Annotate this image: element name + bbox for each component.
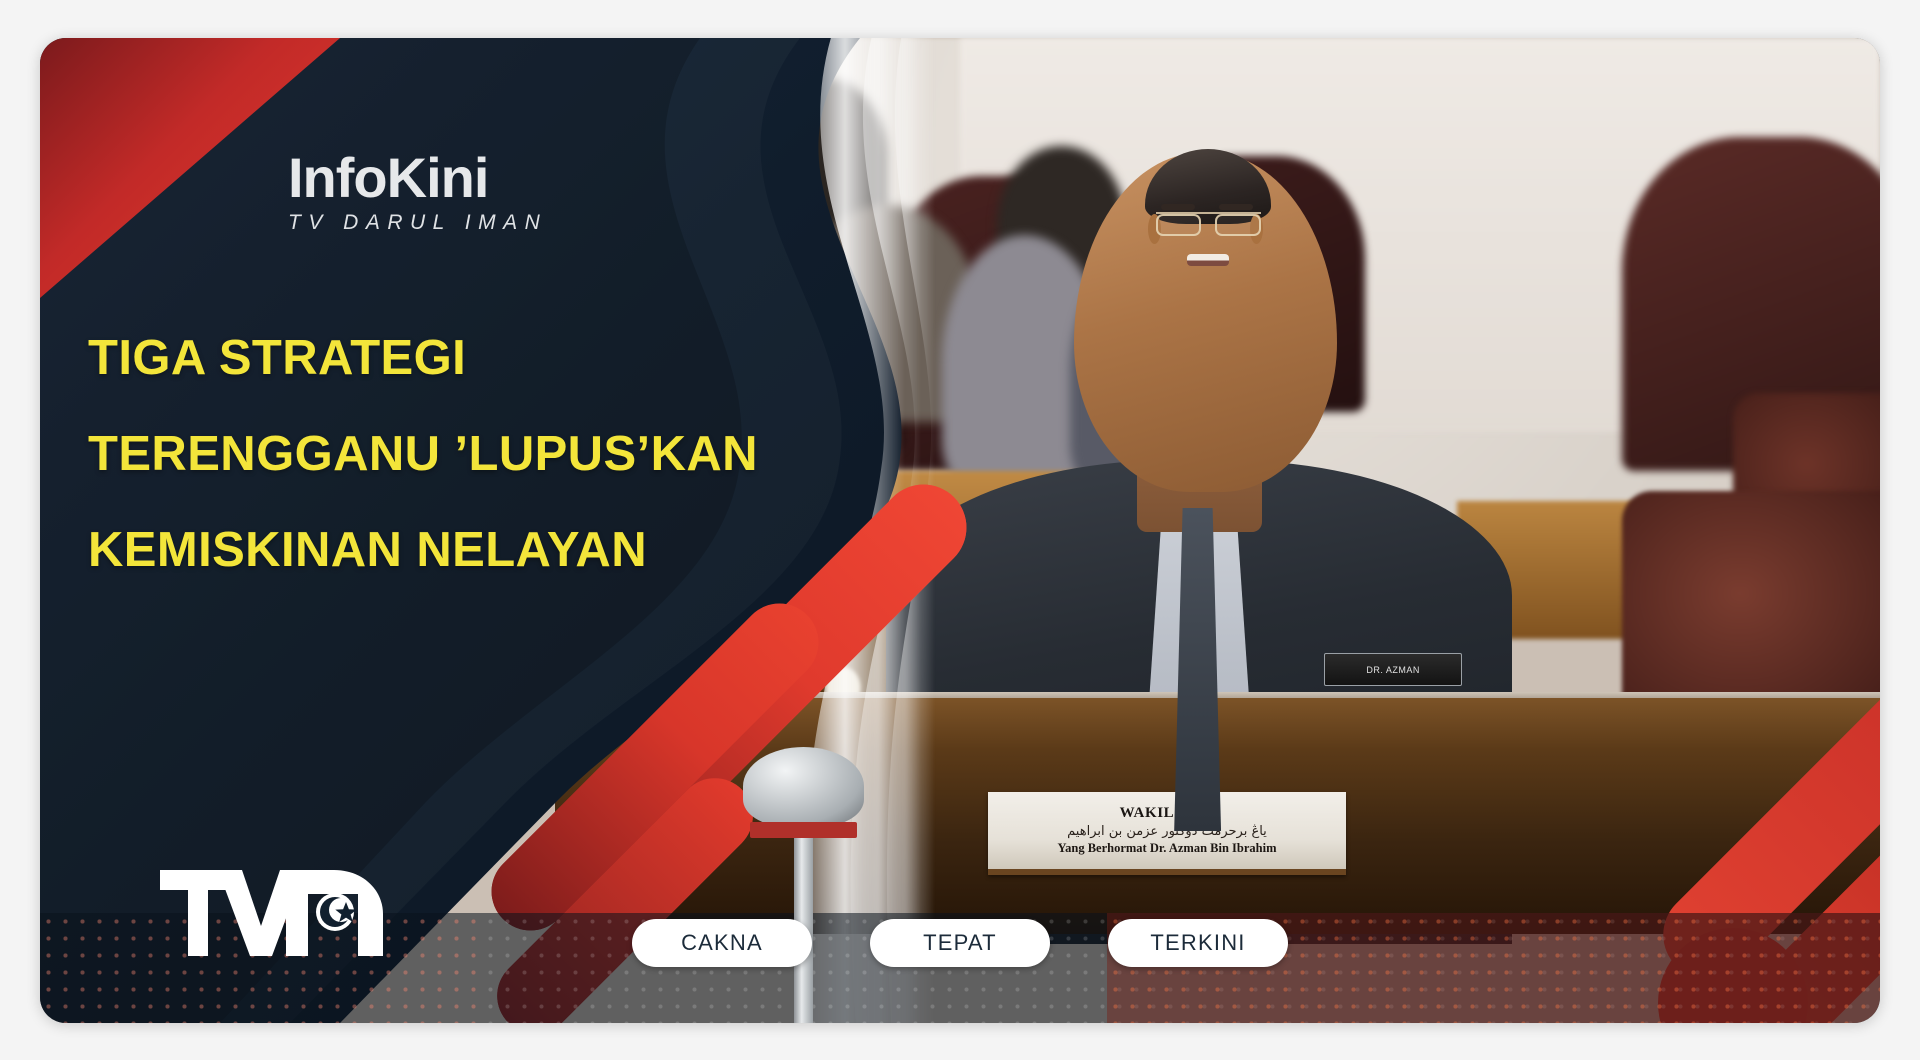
pill-tepat[interactable]: TEPAT bbox=[870, 919, 1050, 967]
nameplate-jawi: ياڠ برحرمت دوكتور عزمن بن ابراهيم bbox=[1067, 824, 1267, 839]
brand-subtitle: TV DARUL IMAN bbox=[288, 211, 547, 235]
lens bbox=[1215, 214, 1260, 236]
mouth bbox=[1187, 254, 1229, 266]
eyebrow bbox=[1219, 204, 1253, 211]
eyebrow bbox=[1161, 204, 1195, 211]
news-card: DR. AZMAN WAKIL JABI ياڠ برحرمت دوكتور ع… bbox=[40, 38, 1880, 1023]
pill-terkini[interactable]: TERKINI bbox=[1108, 919, 1288, 967]
nameplate-name: Yang Berhormat Dr. Azman Bin Ibrahim bbox=[1057, 841, 1276, 856]
lens bbox=[1156, 214, 1201, 236]
eyeglasses-icon bbox=[1156, 212, 1261, 236]
desk-nameplate: WAKIL JABI ياڠ برحرمت دوكتور عزمن بن ابر… bbox=[988, 792, 1347, 876]
brand-lockup: InfoKini TV DARUL IMAN bbox=[288, 150, 547, 235]
pill-cakna[interactable]: CAKNA bbox=[632, 919, 812, 967]
headline-line-3: KEMISKINAN NELAYAN bbox=[88, 526, 988, 575]
brand-name: InfoKini bbox=[288, 150, 547, 206]
microphone-indicator bbox=[750, 822, 857, 838]
microphone-icon bbox=[743, 747, 864, 826]
headline-line-1: TIGA STRATEGI bbox=[88, 334, 988, 383]
headline-line-2: TERENGGANU ’LUPUS’KAN bbox=[88, 430, 988, 479]
tagline-pill-group: CAKNA TEPAT TERKINI bbox=[40, 919, 1880, 967]
headline-block: TIGA STRATEGI TERENGGANU ’LUPUS’KAN KEMI… bbox=[88, 334, 988, 575]
lapel-name-badge: DR. AZMAN bbox=[1324, 653, 1462, 685]
face bbox=[1074, 153, 1337, 492]
